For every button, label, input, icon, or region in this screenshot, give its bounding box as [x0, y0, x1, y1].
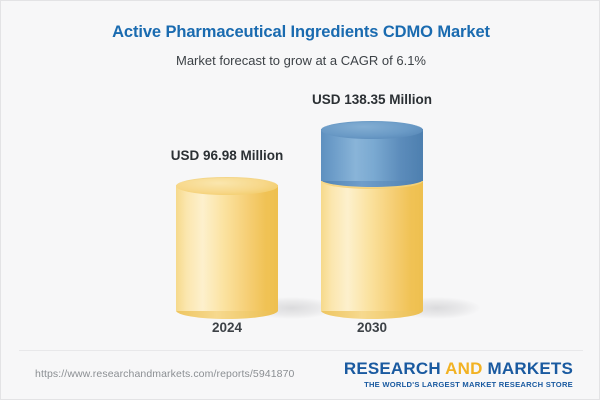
logo-word-research: RESEARCH	[344, 359, 441, 378]
bar-2030-growth-segment[interactable]	[321, 121, 423, 181]
bar-2030-base-body	[321, 181, 423, 311]
bar-2030-growth-top-ellipse	[321, 121, 423, 139]
logo-word-markets: MARKETS	[488, 359, 573, 378]
report-url[interactable]: https://www.researchandmarkets.com/repor…	[35, 368, 294, 380]
bar-2024-top-ellipse	[176, 177, 278, 195]
logo-tagline: THE WORLD'S LARGEST MARKET RESEARCH STOR…	[344, 380, 573, 389]
bar-2024-body	[176, 185, 278, 311]
category-label-2030: 2030	[292, 320, 452, 335]
value-label-2024: USD 96.98 Million	[117, 148, 337, 163]
plot-area: USD 96.98 Million 2024 USD 138.35 Millio…	[1, 1, 600, 346]
footer-divider	[19, 350, 583, 351]
chart-page: Active Pharmaceutical Ingredients CDMO M…	[0, 0, 600, 400]
value-label-2030: USD 138.35 Million	[262, 92, 482, 107]
logo-wordmark: RESEARCH AND MARKETS	[344, 360, 573, 378]
bar-2024[interactable]	[176, 177, 278, 311]
bar-2030-base-segment[interactable]	[321, 177, 423, 311]
research-and-markets-logo[interactable]: RESEARCH AND MARKETS THE WORLD'S LARGEST…	[344, 360, 573, 389]
logo-word-and: AND	[445, 359, 482, 378]
category-label-2024: 2024	[147, 320, 307, 335]
